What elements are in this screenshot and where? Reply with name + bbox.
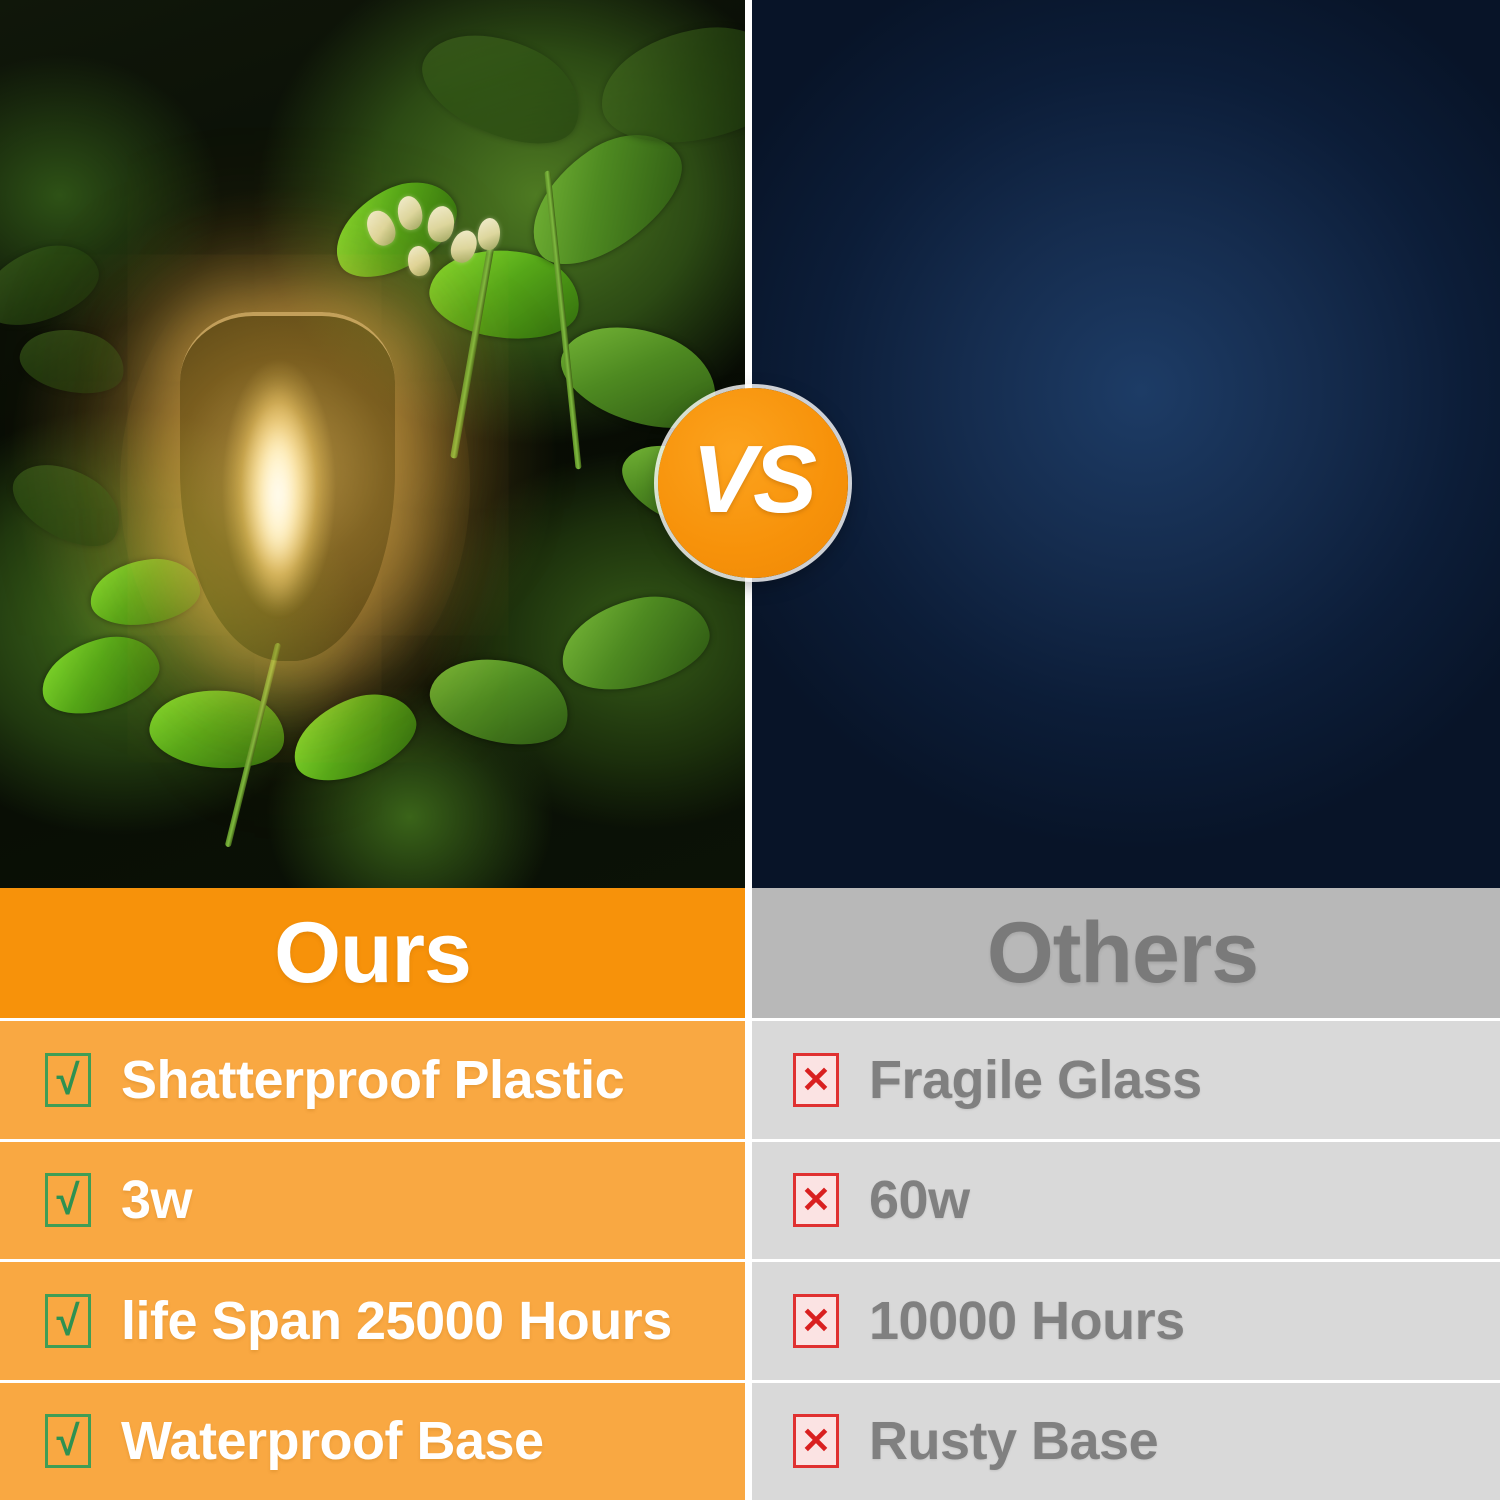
table-divider (745, 888, 752, 1500)
ours-feature-label: Waterproof Base (121, 1414, 544, 1468)
bulb-filament-glow (243, 380, 313, 610)
ours-rows: √ Shatterproof Plastic √ 3w √ life Span … (0, 1018, 745, 1500)
others-column: Others ✕ Fragile Glass ✕ 60w ✕ 10000 Hou… (745, 888, 1500, 1500)
cross-mark-icon: ✕ (793, 1053, 839, 1107)
others-header-title: Others (987, 910, 1258, 996)
vs-badge: VS (658, 388, 848, 578)
vs-label: VS (692, 432, 814, 528)
table-row: √ Shatterproof Plastic (0, 1018, 745, 1139)
ours-feature-label: 3w (121, 1173, 192, 1227)
table-row: √ 3w (0, 1139, 745, 1260)
others-feature-label: 60w (869, 1173, 970, 1227)
ours-header: Ours (0, 888, 745, 1018)
ours-column: Ours √ Shatterproof Plastic √ 3w √ life … (0, 888, 745, 1500)
others-product-photo (752, 0, 1500, 888)
ours-feature-label: life Span 25000 Hours (121, 1294, 672, 1348)
check-mark-icon: √ (45, 1414, 91, 1468)
cross-mark-icon: ✕ (793, 1173, 839, 1227)
others-header: Others (745, 888, 1500, 1018)
ours-feature-label: Shatterproof Plastic (121, 1053, 624, 1107)
photo-strip: VS (0, 0, 1500, 888)
table-row: ✕ 60w (745, 1139, 1500, 1260)
check-mark-icon: √ (45, 1294, 91, 1348)
table-row: √ life Span 25000 Hours (0, 1259, 745, 1380)
check-mark-icon: √ (45, 1053, 91, 1107)
comparison-infographic: VS Ours √ Shatterproof Plastic √ 3w √ (0, 0, 1500, 1500)
others-feature-label: Rusty Base (869, 1414, 1158, 1468)
others-feature-label: Fragile Glass (869, 1053, 1202, 1107)
navy-background (752, 0, 1500, 888)
others-feature-label: 10000 Hours (869, 1294, 1185, 1348)
cross-mark-icon: ✕ (793, 1414, 839, 1468)
table-row: √ Waterproof Base (0, 1380, 745, 1500)
others-rows: ✕ Fragile Glass ✕ 60w ✕ 10000 Hours ✕ Ru… (745, 1018, 1500, 1500)
ours-header-title: Ours (274, 910, 471, 996)
table-row: ✕ 10000 Hours (745, 1259, 1500, 1380)
ours-product-photo (0, 0, 745, 888)
check-mark-icon: √ (45, 1173, 91, 1227)
table-row: ✕ Fragile Glass (745, 1018, 1500, 1139)
table-row: ✕ Rusty Base (745, 1380, 1500, 1500)
cross-mark-icon: ✕ (793, 1294, 839, 1348)
